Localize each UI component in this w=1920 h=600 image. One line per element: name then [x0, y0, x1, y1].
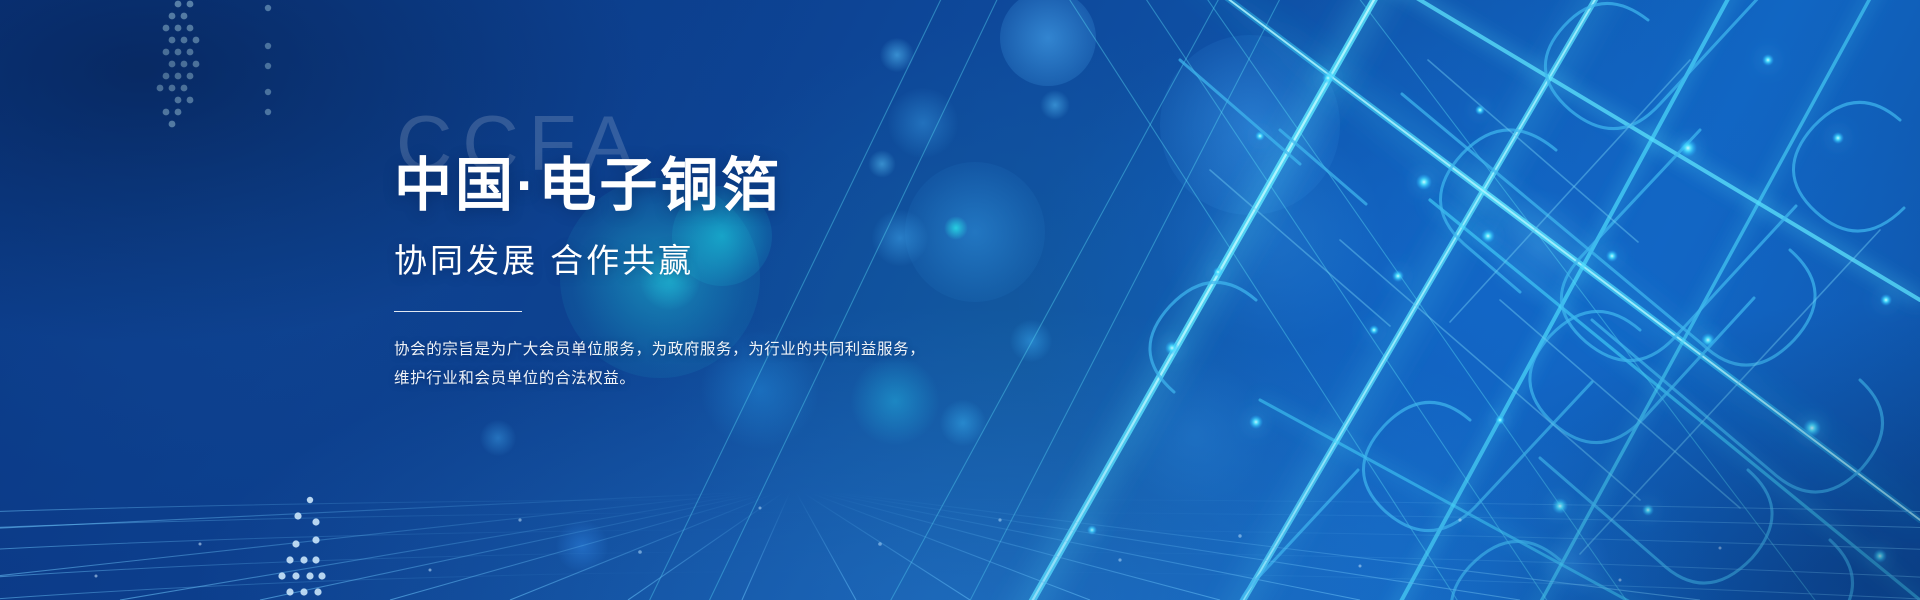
bokeh-circle — [1160, 35, 1340, 215]
title-divider — [394, 311, 522, 312]
description-line-1: 协会的宗旨是为广大会员单位服务，为政府服务，为行业的共同利益服务， — [394, 336, 954, 365]
bokeh-circle — [556, 520, 608, 572]
description-line-2: 维护行业和会员单位的合法权益。 — [394, 365, 954, 394]
bokeh-circle — [940, 400, 986, 446]
bokeh-circle — [1540, 528, 1610, 598]
bokeh-circle — [1156, 120, 1386, 350]
speck-group — [95, 507, 1722, 582]
page-description: 协会的宗旨是为广大会员单位服务，为政府服务，为行业的共同利益服务， 维护行业和会… — [394, 336, 954, 393]
bokeh-circle — [1478, 188, 1598, 308]
hero-banner: CCFA 中国·电子铜箔 协同发展 合作共赢 协会的宗旨是为广大会员单位服务，为… — [0, 0, 1920, 600]
bokeh-circle — [880, 38, 914, 72]
dot-matrix-top-left — [157, 1, 272, 128]
circuit-trace-group — [1150, 0, 1904, 600]
node-group — [1087, 54, 1892, 563]
glow-beam-group — [1010, 0, 1920, 600]
page-title: 中国·电子铜箔 — [394, 152, 1094, 220]
dot-matrix-bottom-left — [278, 497, 325, 596]
perspective-grid — [0, 492, 1920, 600]
banner-text-block: CCFA 中国·电子铜箔 协同发展 合作共赢 协会的宗旨是为广大会员单位服务，为… — [394, 104, 1094, 394]
bokeh-circle — [480, 420, 516, 456]
circuit-trace-thin-group — [1210, 60, 1880, 554]
page-subtitle: 协同发展 合作共赢 — [394, 240, 1094, 283]
bokeh-circle — [1120, 360, 1270, 510]
bokeh-circle — [1000, 0, 1096, 86]
